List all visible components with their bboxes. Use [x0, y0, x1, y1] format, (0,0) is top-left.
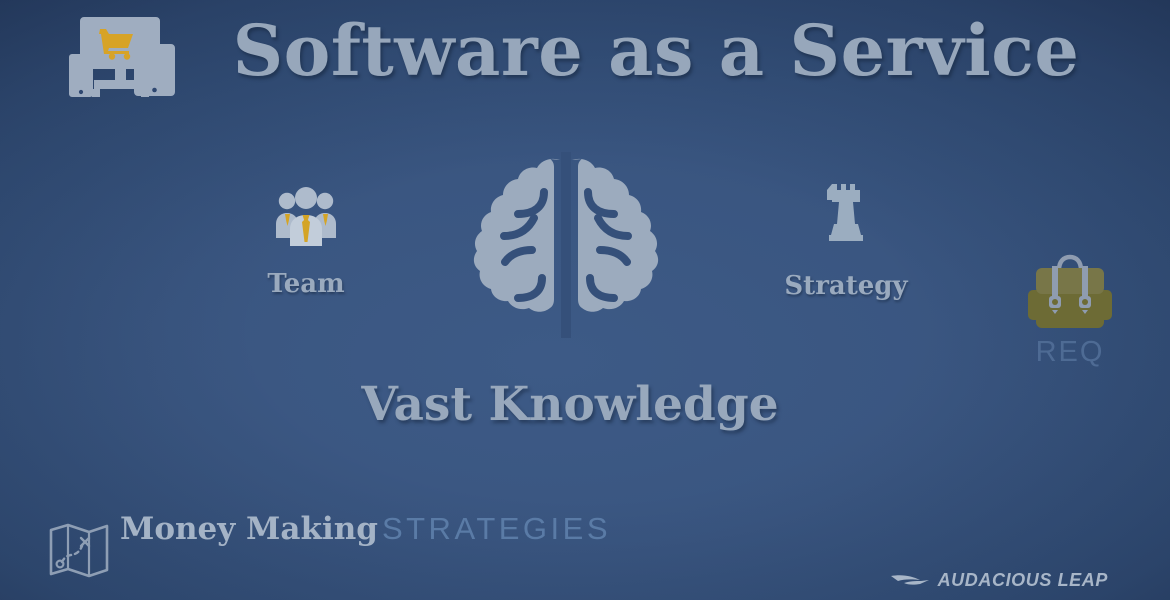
feature-label-req: REQ [1014, 336, 1126, 368]
feature-label-strategy: Strategy [783, 270, 909, 302]
feature-req: REQ [1014, 254, 1126, 368]
brand-name-line2: STRATEGIES [382, 511, 611, 546]
publisher-name: AUDACIOUS LEAP [938, 570, 1108, 590]
treasure-map-icon [48, 520, 110, 582]
slide-title: Software as a Service [186, 8, 1126, 94]
brain-icon [468, 152, 664, 338]
presentation-slide: Software as a Service Team [0, 0, 1170, 600]
feature-label-vast-knowledge: Vast Knowledge [285, 376, 855, 434]
feature-strategy: Strategy [783, 182, 909, 302]
ecommerce-devices-icon [68, 14, 178, 100]
team-people-icon [274, 186, 338, 248]
brand-name-line1: Money Making [120, 511, 378, 547]
publisher-logo: AUDACIOUS LEAP [890, 570, 1108, 590]
brand-logo: Money Making STRATEGIES [48, 512, 611, 582]
feature-team: Team [244, 186, 368, 300]
feature-label-team: Team [244, 268, 368, 300]
chess-rook-icon [826, 182, 866, 250]
bird-swoosh-icon [890, 571, 930, 589]
backpack-icon [1025, 254, 1115, 334]
